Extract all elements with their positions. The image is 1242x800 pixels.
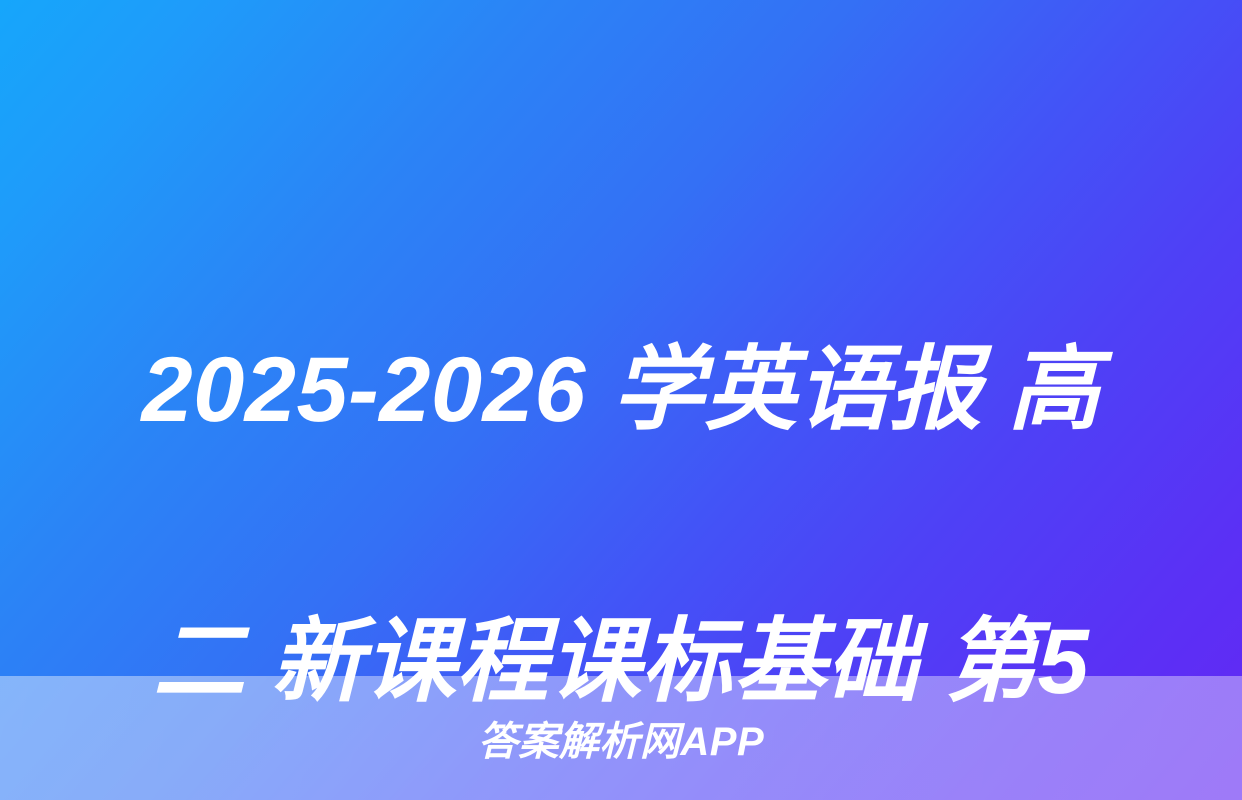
- footer-band: 答案解析网APP: [0, 676, 1242, 800]
- brand-watermark: 答案解析网APP: [0, 676, 1242, 800]
- page-title-line-1: 2025-2026 学英语报 高: [0, 322, 1242, 458]
- answer-card: 2025-2026 学英语报 高 二 新课程课标基础 第5 期答案 答案解析网A…: [0, 0, 1242, 800]
